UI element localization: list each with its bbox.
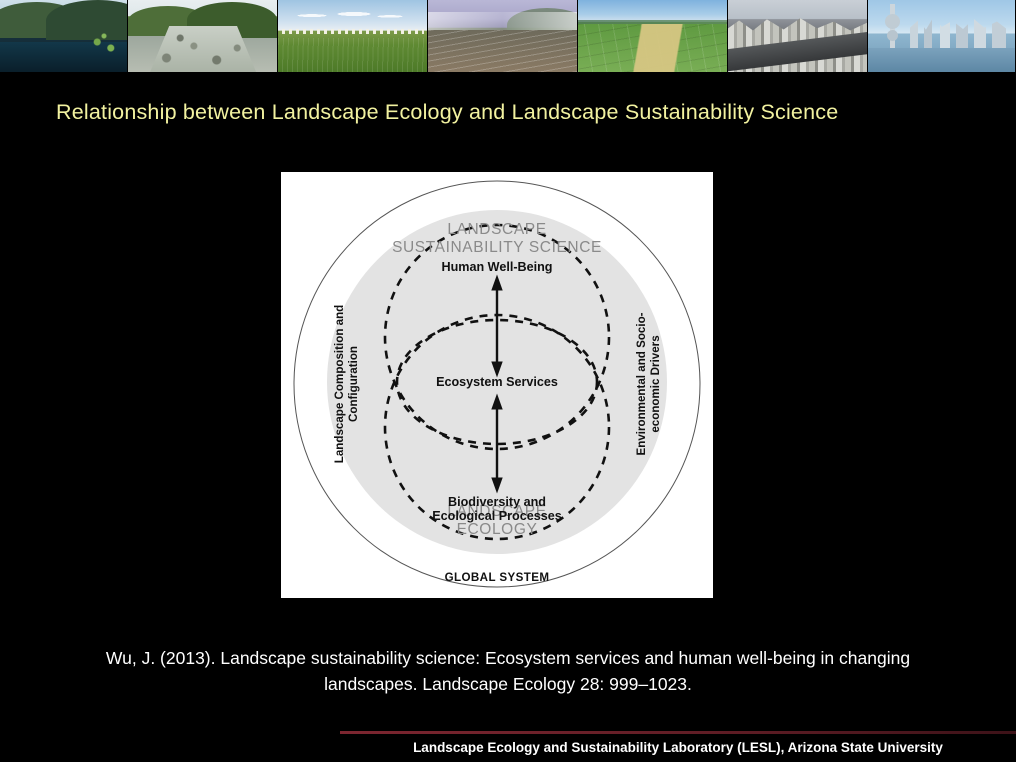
- citation-line-2: landscapes. Landscape Ecology 28: 999–10…: [40, 671, 976, 697]
- figure-panel: LANDSCAPE SUSTAINABILITY SCIENCE LANDSCA…: [281, 172, 713, 598]
- farmland-photo: [578, 0, 728, 72]
- footer-divider: [340, 731, 1016, 734]
- slide-canvas: Relationship between Landscape Ecology a…: [0, 0, 1016, 762]
- domain-bottom-line2: ECOLOGY: [457, 521, 538, 538]
- photo-banner: [0, 0, 1016, 72]
- left-axis-label-line2: Configuration: [347, 346, 360, 422]
- skyline-photo: [868, 0, 1016, 72]
- left-axis-label-line1: Landscape Composition and: [333, 305, 346, 463]
- slide-title: Relationship between Landscape Ecology a…: [56, 100, 986, 125]
- dense-city-photo: [728, 0, 868, 72]
- mountain-lake-photo: [0, 0, 128, 72]
- node-bottom-label-line2: Ecological Processes: [432, 509, 562, 523]
- global-system-label: GLOBAL SYSTEM: [445, 571, 550, 584]
- node-bottom-label-line1: Biodiversity and: [448, 495, 546, 509]
- footer-label: Landscape Ecology and Sustainability Lab…: [340, 740, 1016, 755]
- concept-diagram: LANDSCAPE SUSTAINABILITY SCIENCE LANDSCA…: [281, 172, 713, 598]
- grassland-photo: [278, 0, 428, 72]
- mountain-stream-photo: [128, 0, 278, 72]
- node-middle-label: Ecosystem Services: [436, 375, 558, 389]
- citation-line-1: Wu, J. (2013). Landscape sustainability …: [40, 645, 976, 671]
- node-top-label: Human Well-Being: [441, 260, 552, 274]
- right-axis-label-line1: Environmental and Socio-: [635, 312, 648, 455]
- citation-block: Wu, J. (2013). Landscape sustainability …: [40, 645, 976, 697]
- right-axis-label-line2: economic Drivers: [649, 335, 662, 432]
- terraced-hills-photo: [428, 0, 578, 72]
- domain-top-line2: SUSTAINABILITY SCIENCE: [392, 239, 602, 256]
- domain-top-line1: LANDSCAPE: [447, 221, 546, 238]
